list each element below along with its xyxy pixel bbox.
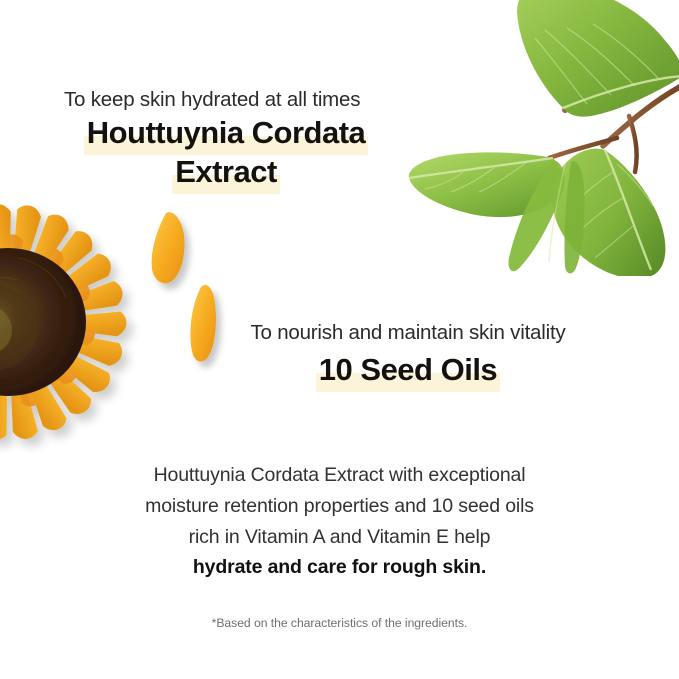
body-copy: Houttuynia Cordata Extract with exceptio… (0, 460, 679, 583)
leaf-shape-blade (508, 160, 584, 273)
petal-upper (152, 212, 185, 283)
product-graphic-canvas: To keep skin hydrated at all times Houtt… (0, 0, 679, 679)
leaf-shape-middle (409, 152, 562, 217)
seedoils-kicker: To nourish and maintain skin vitality (232, 319, 584, 346)
seedoils-headline: 10 Seed Oils (232, 350, 584, 389)
petal-lower (190, 285, 216, 362)
hydration-kicker: To keep skin hydrated at all times (64, 86, 391, 113)
body-copy-line-4-emphasis: hydrate and care for rough skin. (0, 552, 679, 583)
leaf-shape-lower (552, 149, 665, 276)
hydration-headline: Houttuynia Cordata Extract (61, 113, 391, 191)
sunflower-center (0, 248, 86, 396)
houttuynia-leaf-cluster-image (367, 0, 679, 276)
footnote-disclaimer: *Based on the characteristics of the ing… (0, 616, 679, 630)
leaf-shape-top (517, 0, 679, 117)
seedoils-text-block: To nourish and maintain skin vitality 10… (232, 319, 584, 389)
hydration-headline-line1: Houttuynia Cordata (84, 113, 369, 152)
leaf-stem (549, 72, 679, 172)
hydration-text-block: To keep skin hydrated at all times Houtt… (64, 86, 391, 191)
body-copy-line-3: rich in Vitamin A and Vitamin E help (0, 522, 679, 553)
sunflower-petals (0, 202, 128, 442)
body-copy-line-2: moisture retention properties and 10 see… (0, 491, 679, 522)
sunflower-image (0, 190, 182, 460)
hydration-headline-line2: Extract (172, 152, 280, 191)
seedoils-headline-text: 10 Seed Oils (316, 350, 500, 389)
body-copy-line-1: Houttuynia Cordata Extract with exceptio… (0, 460, 679, 491)
